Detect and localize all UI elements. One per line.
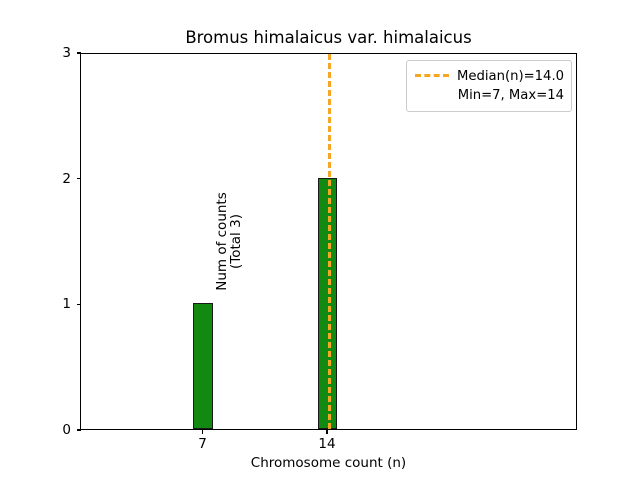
x-tick-label-14: 14 <box>297 436 357 452</box>
y-axis-label-line2: (Total 3) <box>47 53 424 430</box>
legend-label-line1: Median(n)=14.0 <box>457 69 564 84</box>
x-tick-label-7: 7 <box>173 436 233 452</box>
legend-label-line2: Min=7, Max=14 <box>458 88 564 103</box>
x-tick-mark-7 <box>202 430 203 434</box>
x-axis-label: Chromosome count (n) <box>80 455 577 471</box>
legend: Median(n)=14.0 Min=7, Max=14 <box>406 60 572 112</box>
legend-entry-median: Median(n)=14.0 Min=7, Max=14 <box>415 67 564 105</box>
chart-figure: Bromus himalaicus var. himalaicus 0 1 2 … <box>0 0 640 480</box>
chart-title: Bromus himalaicus var. himalaicus <box>80 28 577 47</box>
legend-entry-label: Median(n)=14.0 Min=7, Max=14 <box>457 67 564 105</box>
x-tick-mark-14 <box>326 430 327 434</box>
dashed-line-icon <box>415 74 449 77</box>
